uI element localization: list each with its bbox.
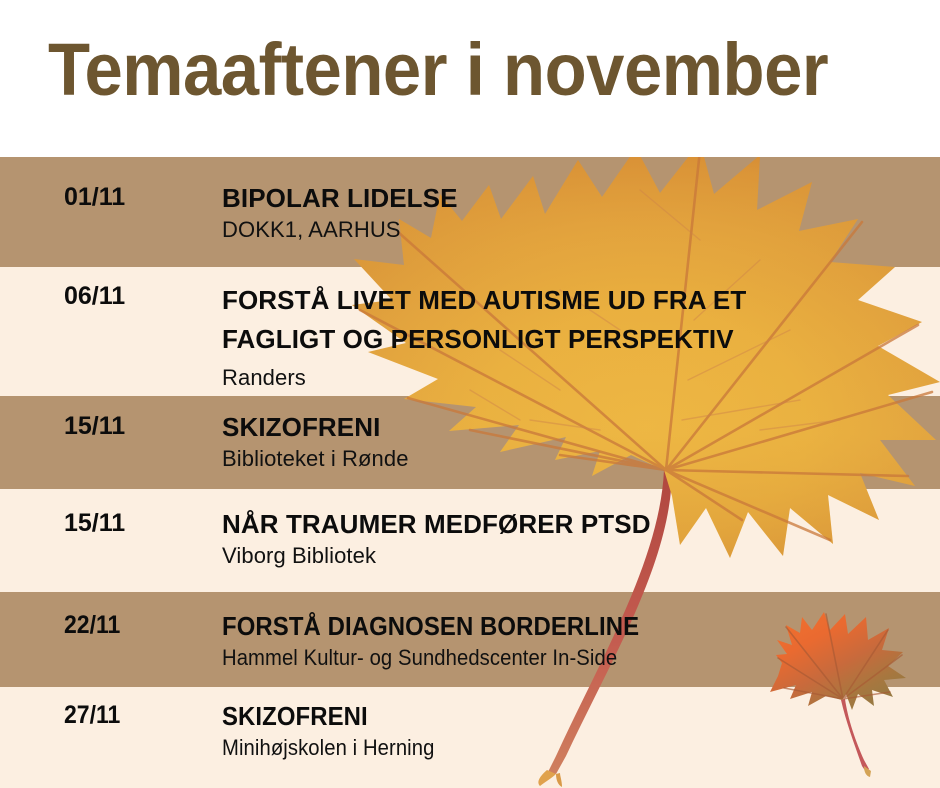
- event-body: FORSTÅ LIVET MED AUTISME UD FRA ET FAGLI…: [222, 281, 822, 392]
- event-date: 15/11: [64, 411, 125, 441]
- event-place: Viborg Bibliotek: [222, 541, 922, 570]
- event-body: BIPOLAR LIDELSE DOKK1, AARHUS: [222, 182, 922, 244]
- event-title: FORSTÅ LIVET MED AUTISME UD FRA ET FAGLI…: [222, 281, 822, 359]
- event-title: SKIZOFRENI: [222, 411, 922, 444]
- event-date: 27/11: [64, 700, 120, 730]
- event-place: Biblioteket i Rønde: [222, 444, 922, 473]
- event-title: SKIZOFRENI: [222, 700, 866, 733]
- event-date: 01/11: [64, 182, 125, 212]
- event-body: SKIZOFRENI Minihøjskolen i Herning: [222, 700, 922, 762]
- event-body: SKIZOFRENI Biblioteket i Rønde: [222, 411, 922, 473]
- event-date: 06/11: [64, 281, 125, 311]
- event-date: 15/11: [64, 508, 125, 538]
- event-title: BIPOLAR LIDELSE: [222, 182, 922, 215]
- event-title: FORSTÅ DIAGNOSEN BORDERLINE: [222, 610, 866, 643]
- event-place: DOKK1, AARHUS: [222, 215, 922, 244]
- event-body: NÅR TRAUMER MEDFØRER PTSD Viborg Bibliot…: [222, 508, 922, 570]
- event-body: FORSTÅ DIAGNOSEN BORDERLINE Hammel Kultu…: [222, 610, 922, 672]
- title-band: Temaaftener i november: [0, 0, 940, 157]
- event-date: 22/11: [64, 610, 120, 640]
- event-place: Minihøjskolen i Herning: [222, 733, 866, 762]
- event-title: NÅR TRAUMER MEDFØRER PTSD: [222, 508, 922, 541]
- page-title: Temaaftener i november: [48, 28, 828, 112]
- event-place: Hammel Kultur- og Sundhedscenter In-Side: [222, 643, 866, 672]
- event-place: Randers: [222, 363, 822, 392]
- poster-canvas: Temaaftener i november 01/11 BIPOLAR LID…: [0, 0, 940, 788]
